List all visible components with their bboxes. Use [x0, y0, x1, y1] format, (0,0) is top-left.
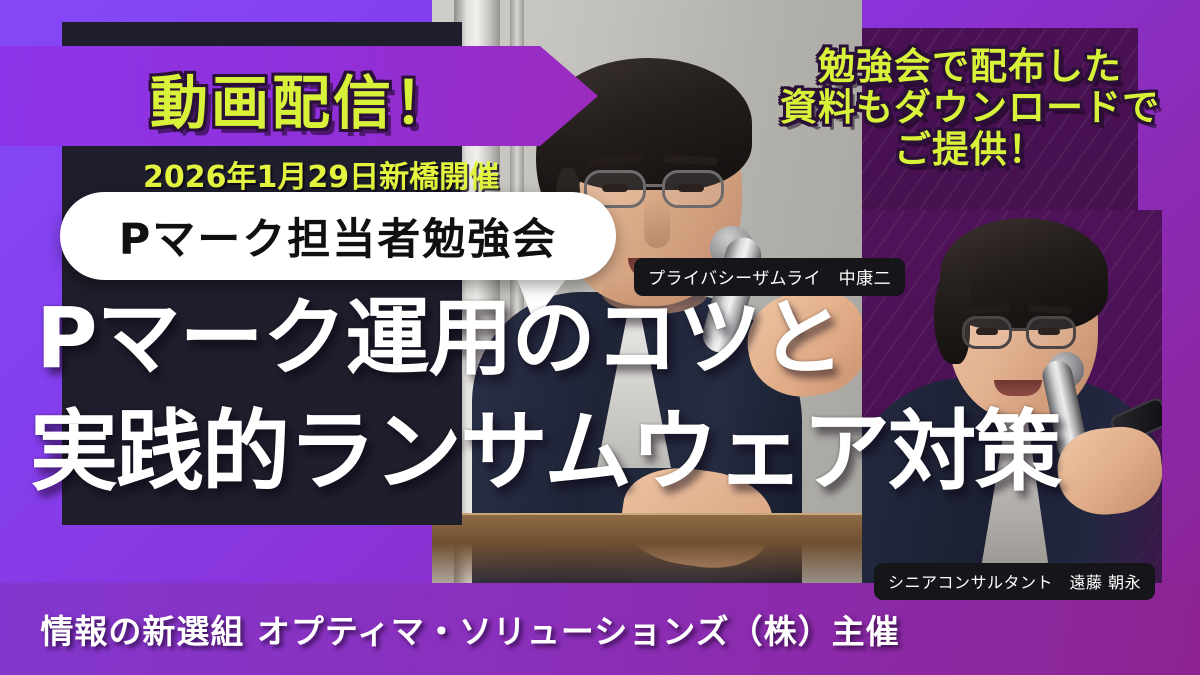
event-date: 2026年1月29日新橋開催 — [143, 152, 499, 196]
download-note-line-3: ご提供！ — [760, 129, 1180, 170]
download-note: 勉強会で配布した 資料もダウンロードで ご提供！ — [760, 46, 1180, 170]
download-note-line-1: 勉強会で配布した — [760, 46, 1180, 87]
speaker-b-eye-left — [976, 328, 998, 335]
speaker-nametag-2: シニアコンサルタント 遠藤 朝永 — [874, 563, 1155, 600]
page-title-line-2: 実践的ランサムウェア対策 — [30, 408, 1060, 496]
promo-poster: 動画配信！ 勉強会で配布した 資料もダウンロードで ご提供！ 2026年1月29… — [0, 0, 1200, 675]
page-title-line-1: Pマーク運用のコツと — [36, 296, 844, 380]
speech-bubble-label: Pマーク担当者勉強会 — [60, 192, 616, 280]
footer-organizer: 情報の新選組 オプティマ・ソリューションズ（株）主催 — [0, 605, 940, 653]
speaker-a-nose — [644, 196, 670, 248]
table-surface — [432, 515, 862, 585]
speaker-b-eye-right — [1038, 328, 1060, 335]
speaker-a-eye-left — [602, 184, 628, 192]
speaker-a-eye-right — [678, 184, 704, 192]
speaker-nametag-1: プライバシーザムライ 中康二 — [634, 258, 905, 296]
download-note-line-2: 資料もダウンロードで — [760, 87, 1180, 128]
video-badge-label: 動画配信！ — [150, 56, 455, 140]
